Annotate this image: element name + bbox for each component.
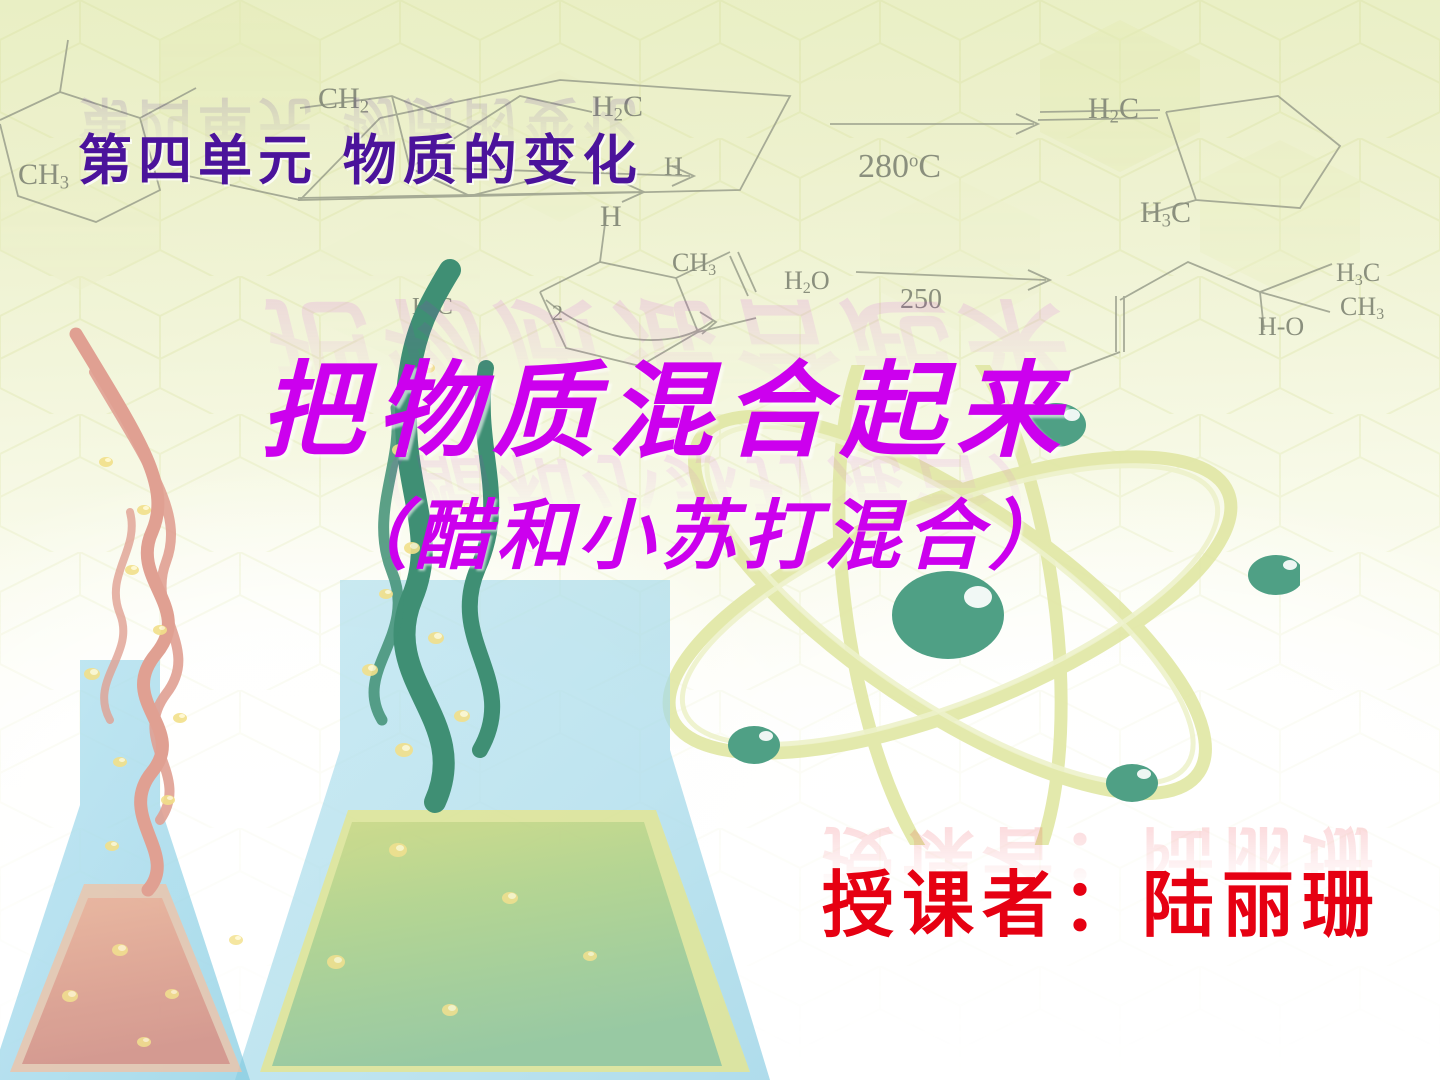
main-title-reflection: 把物质混合起来 (260, 279, 1072, 430)
chem-label-ch3-lower-right: CH3 (1340, 292, 1384, 324)
presenter-name-reflection: 授课者：陆丽珊 (822, 813, 1382, 918)
atom-graphic (600, 365, 1300, 845)
chem-label-h3c-right: H3C (1140, 196, 1191, 233)
unit-heading-reflection: 第四单元 物质的变化 (78, 87, 643, 166)
chem-label-ho: H-O (1258, 312, 1304, 342)
honeycomb-pattern (0, 0, 1440, 1080)
chem-label-ch3-left: CH3 (18, 158, 69, 195)
main-title: 把物质混合起来 (260, 326, 1072, 477)
chemical-structures-graphic (0, 0, 1440, 1080)
chem-label-ch2: CH2 (318, 82, 369, 119)
chem-label-h3c-lower-right: H3C (1336, 258, 1380, 290)
chem-label-h2c-right: H2C (1088, 92, 1139, 129)
sub-title: （醋和小苏打混合） (332, 474, 1070, 584)
chem-label-h2c-center: H2C (592, 90, 643, 127)
unit-heading: 第四单元 物质的变化 (78, 116, 643, 195)
presentation-slide: CH2 CH3 H2C H H H2C H3C H3C CH3 H-O CH3 … (0, 0, 1440, 1080)
flask-illustration (0, 250, 810, 1080)
chem-label-ch3-center: CH3 (672, 248, 716, 280)
chem-label-280c: 280oC (858, 148, 941, 186)
chem-label-h2o: H2O (784, 266, 830, 298)
sub-title-reflection: （醋和小苏打混合） (332, 440, 1070, 550)
presenter-name: 授课者：陆丽珊 (822, 846, 1382, 951)
chem-label-250: 250 (900, 284, 942, 316)
chem-label-h-left: H (664, 152, 683, 182)
chem-label-h-lower: H (600, 200, 622, 234)
chem-label-h3c-center-left: H3C (412, 294, 453, 323)
chem-label-number-2: 2 (552, 300, 563, 326)
